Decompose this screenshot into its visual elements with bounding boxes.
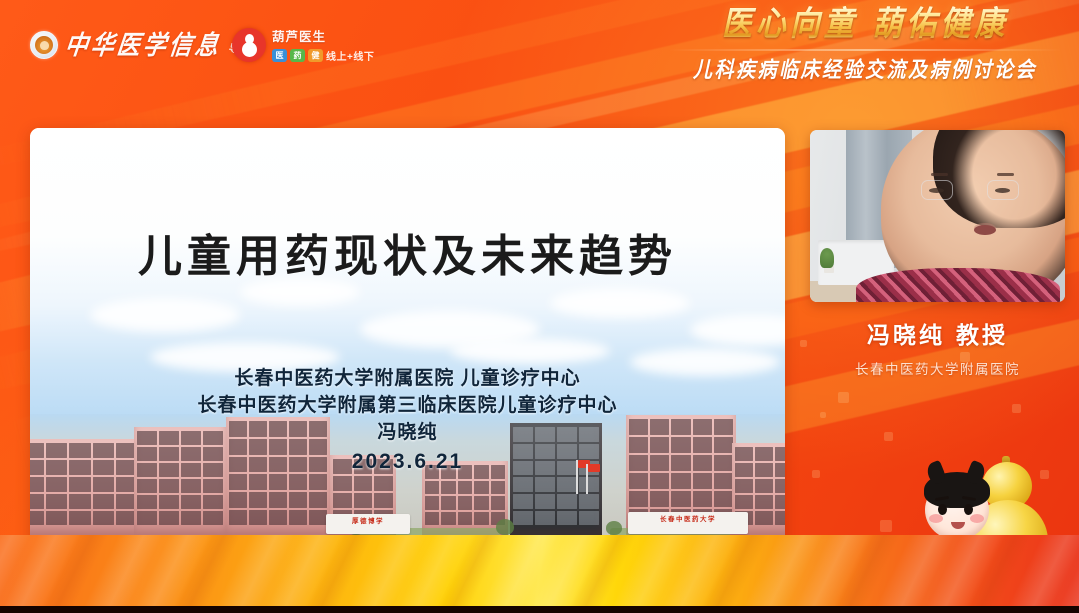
slide-title: 儿童用药现状及未来趋势 <box>30 220 785 284</box>
speaker-mouth <box>974 225 996 235</box>
campus-tree <box>606 521 622 535</box>
mascot-blush <box>970 514 984 523</box>
event-banner-divider <box>669 49 1061 51</box>
campus-sign-left-text: 厚德博学 <box>326 514 410 525</box>
footer-baseline <box>0 606 1079 613</box>
presentation-slide[interactable]: 厚德博学 长春中医药大学 儿童用药现状及未来趋势 长春中医药大学附属医院 儿童诊… <box>30 128 785 562</box>
header-logos: 中华医学信息 导报 葫芦医生 医 药 健 线上+线下 <box>0 0 660 86</box>
footer-ribbon <box>0 535 1079 613</box>
mascot-blush <box>929 514 943 523</box>
broadcast-stage: 中华医学信息 导报 葫芦医生 医 药 健 线上+线下 医心向童 葫佑健康 儿科疾… <box>0 0 1079 613</box>
logo-chip-3: 健 <box>308 49 323 62</box>
speaker-name: 冯晓纯 教授 <box>810 316 1065 350</box>
logo-chip-2: 药 <box>290 49 305 62</box>
slide-subtitle-line: 长春中医药大学附属医院 儿童诊疗中心 <box>30 366 785 393</box>
logo-cma-journal[interactable]: 中华医学信息 导报 <box>30 31 252 59</box>
speaker-eye <box>929 188 944 193</box>
video-plant <box>820 248 834 268</box>
event-banner-title: 医心向童 葫佑健康 <box>669 6 1061 44</box>
logo-hulu-doctor[interactable]: 葫芦医生 医 药 健 线上+线下 <box>232 26 374 63</box>
speaker-hair <box>933 130 1065 228</box>
speaker-clothing <box>856 268 1060 302</box>
campus-sign-right: 长春中医药大学 <box>628 512 748 534</box>
slide-subtitle-line: 长春中医药大学附属第三临床医院儿童诊疗中心 <box>30 393 785 420</box>
event-banner-subtitle: 儿科疾病临床经验交流及病例讨论会 <box>669 53 1061 84</box>
mascot-eye <box>938 504 947 515</box>
speaker-brow <box>997 173 1014 176</box>
mascot-eye <box>964 504 973 515</box>
logo-hulu-tagline: 线上+线下 <box>326 48 374 63</box>
speaker-brow <box>931 173 948 176</box>
speaker-video-tile[interactable] <box>810 130 1065 302</box>
slide-subtitle-block: 长春中医药大学附属医院 儿童诊疗中心 长春中医药大学附属第三临床医院儿童诊疗中心… <box>30 366 785 477</box>
speaker-organization: 长春中医药大学附属医院 <box>810 358 1065 378</box>
campus-tree <box>496 519 514 535</box>
logo-hulu-brand: 葫芦医生 <box>272 26 374 45</box>
medical-seal-icon <box>30 31 58 59</box>
campus-sign-left: 厚德博学 <box>326 514 410 534</box>
event-banner: 医心向童 葫佑健康 儿科疾病临床经验交流及病例讨论会 <box>669 8 1061 82</box>
logo-cma-journal-text: 中华医学信息 <box>63 32 222 58</box>
speaker-info: 冯晓纯 教授 长春中医药大学附属医院 <box>810 316 1065 378</box>
speaker-eye <box>995 188 1010 193</box>
hulu-doctor-icon <box>232 28 266 62</box>
campus-sign-right-text: 长春中医药大学 <box>628 512 748 523</box>
slide-date: 2023.6.21 <box>30 447 785 477</box>
slide-subtitle-line: 冯晓纯 <box>30 420 785 447</box>
logo-chip-1: 医 <box>272 49 287 62</box>
